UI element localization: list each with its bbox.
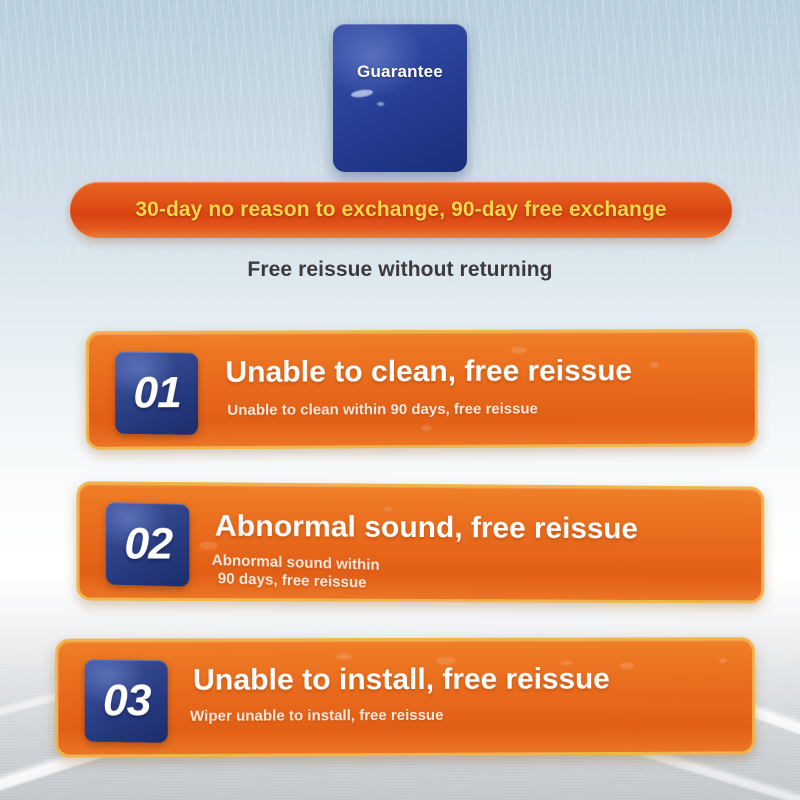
water-droplet — [650, 362, 659, 368]
card-subtitle-02: Abnormal sound within 90 days, free reis… — [212, 552, 380, 592]
exchange-policy-banner-text: 30-day no reason to exchange, 90-day fre… — [135, 198, 666, 222]
card-badge-01: 01 — [115, 351, 198, 435]
guarantee-tile: Guarantee — [333, 24, 467, 172]
tile-highlight-glint-small — [377, 102, 384, 106]
card-title-01: Unable to clean, free reissue — [225, 354, 632, 390]
water-droplet — [620, 662, 634, 669]
guarantee-tile-label: Guarantee — [333, 62, 467, 82]
water-droplet — [719, 658, 728, 663]
infographic-page: Guarantee 30-day no reason to exchange, … — [0, 0, 800, 800]
card-badge-02: 02 — [106, 502, 189, 587]
card-title-02: Abnormal sound, free reissue — [215, 510, 638, 547]
water-droplet — [511, 347, 527, 354]
guarantee-card-01: 01 Unable to clean, free reissue Unable … — [86, 329, 758, 450]
free-reissue-subtitle: Free reissue without returning — [0, 258, 800, 282]
card-badge-03: 03 — [85, 659, 168, 743]
guarantee-card-03: 03 Unable to install, free reissue Wiper… — [55, 637, 755, 757]
card-title-03: Unable to install, free reissue — [193, 662, 610, 697]
card-subtitle-01: Unable to clean within 90 days, free rei… — [227, 400, 538, 419]
card-number-02: 02 — [124, 519, 172, 570]
exchange-policy-banner: 30-day no reason to exchange, 90-day fre… — [70, 182, 732, 238]
water-droplet — [421, 425, 432, 431]
card-number-01: 01 — [133, 368, 180, 418]
tile-highlight-glint — [351, 89, 374, 99]
card-subtitle-03: Wiper unable to install, free reissue — [190, 707, 443, 726]
water-droplet — [336, 653, 352, 660]
card-number-03: 03 — [102, 676, 150, 726]
guarantee-card-02: 02 Abnormal sound, free reissue Abnormal… — [76, 481, 764, 603]
